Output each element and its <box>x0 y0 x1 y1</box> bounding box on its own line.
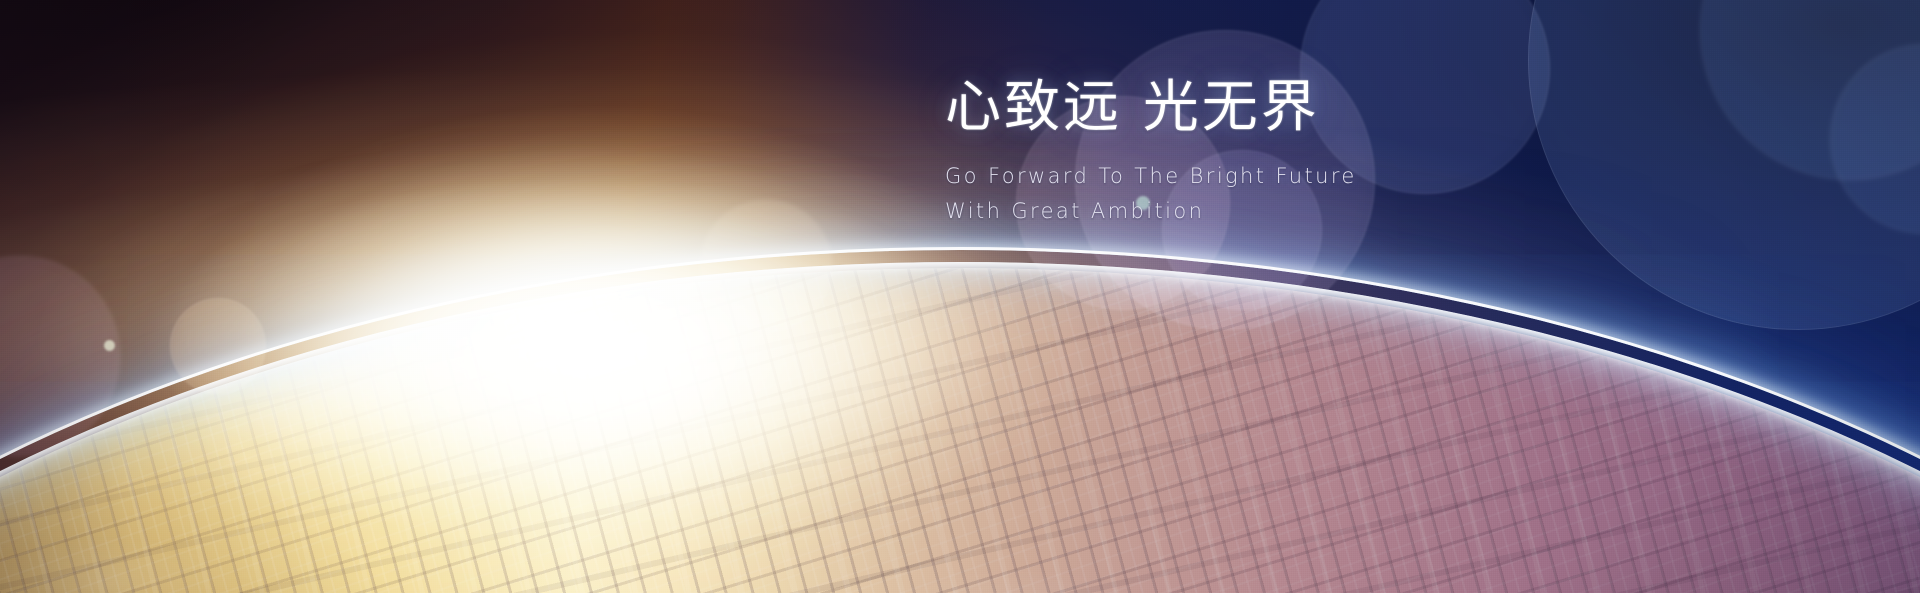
flare-left-speck-icon <box>104 340 115 351</box>
hero-banner: 心致远 光无界 Go Forward To The Bright Future … <box>0 0 1920 593</box>
banner-subtitle-line-2: With Great Ambition <box>945 196 1565 226</box>
atmosphere-cyan-rim <box>0 250 1920 593</box>
flare-right-far-icon <box>1830 44 1920 234</box>
banner-text-block: 心致远 光无界 Go Forward To The Bright Future … <box>945 78 1565 226</box>
banner-subtitle-line-1: Go Forward To The Bright Future <box>945 161 1565 191</box>
banner-headline: 心致远 光无界 <box>945 78 1565 137</box>
flare-right-upper-icon <box>1700 0 1920 180</box>
flare-top-right-large-icon <box>1528 0 1920 330</box>
